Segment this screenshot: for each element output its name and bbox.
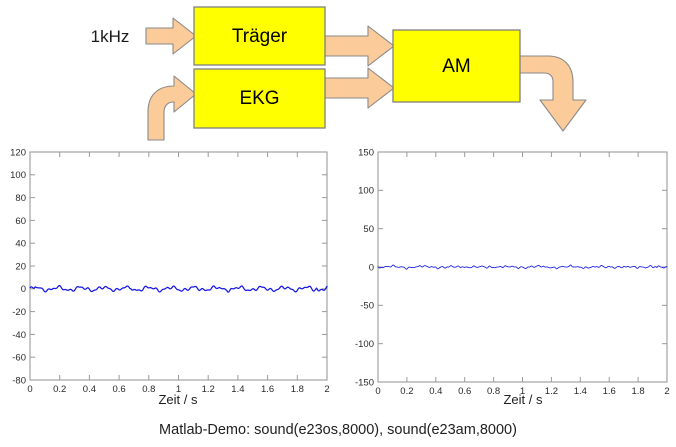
svg-text:-100: -100 xyxy=(355,339,374,350)
chart-am-signal: -150-100-50050100150 00.20.40.60.811.21.… xyxy=(344,148,676,410)
block-ekg[interactable] xyxy=(194,69,325,128)
svg-text:120: 120 xyxy=(10,148,26,158)
chart-ekg-y-tick-labels: -80-60-40-20020406080100120 xyxy=(10,148,26,386)
arrow-carrier-to-am xyxy=(325,26,394,66)
arrow-am-output xyxy=(518,56,586,131)
figure-caption: Matlab-Demo: sound(e23os,8000), sound(e2… xyxy=(0,422,676,438)
svg-text:-60: -60 xyxy=(12,353,26,364)
chart-ekg-x-axis-label: Zeit / s xyxy=(30,392,326,407)
svg-text:40: 40 xyxy=(15,239,26,250)
arrow-ekg-to-am xyxy=(325,68,394,108)
svg-text:20: 20 xyxy=(15,261,26,272)
chart-ekg-plot-frame xyxy=(30,152,327,380)
chart-am-y-tick-labels: -150-100-50050100150 xyxy=(355,148,374,388)
input-frequency-label: 1kHz xyxy=(78,27,142,47)
block-traeger[interactable] xyxy=(194,7,325,65)
arrow-input-carrier xyxy=(146,18,196,54)
svg-text:0: 0 xyxy=(21,284,26,295)
svg-text:150: 150 xyxy=(358,148,374,158)
block-diagram: 1kHz Träger EKG AM xyxy=(0,0,676,146)
chart-am-x-axis-label: Zeit / s xyxy=(378,392,668,407)
chart-ekg-signal: -80-60-40-20020406080100120 00.20.40.60.… xyxy=(2,148,338,410)
svg-text:-50: -50 xyxy=(360,301,374,312)
svg-text:-150: -150 xyxy=(355,377,374,388)
svg-text:100: 100 xyxy=(358,186,374,197)
slide-canvas: 1kHz Träger EKG AM -80-60-40-20020406080… xyxy=(0,0,676,447)
block-am[interactable] xyxy=(393,30,520,102)
arrow-input-ekg-curved xyxy=(148,76,196,140)
svg-text:80: 80 xyxy=(15,193,26,204)
svg-text:100: 100 xyxy=(10,170,26,181)
svg-text:-40: -40 xyxy=(12,330,26,341)
diagram-graphics xyxy=(0,0,676,146)
svg-text:60: 60 xyxy=(15,216,26,227)
svg-text:-20: -20 xyxy=(12,307,26,318)
svg-text:0: 0 xyxy=(369,262,374,273)
svg-text:50: 50 xyxy=(363,224,374,235)
svg-text:-80: -80 xyxy=(12,375,26,386)
